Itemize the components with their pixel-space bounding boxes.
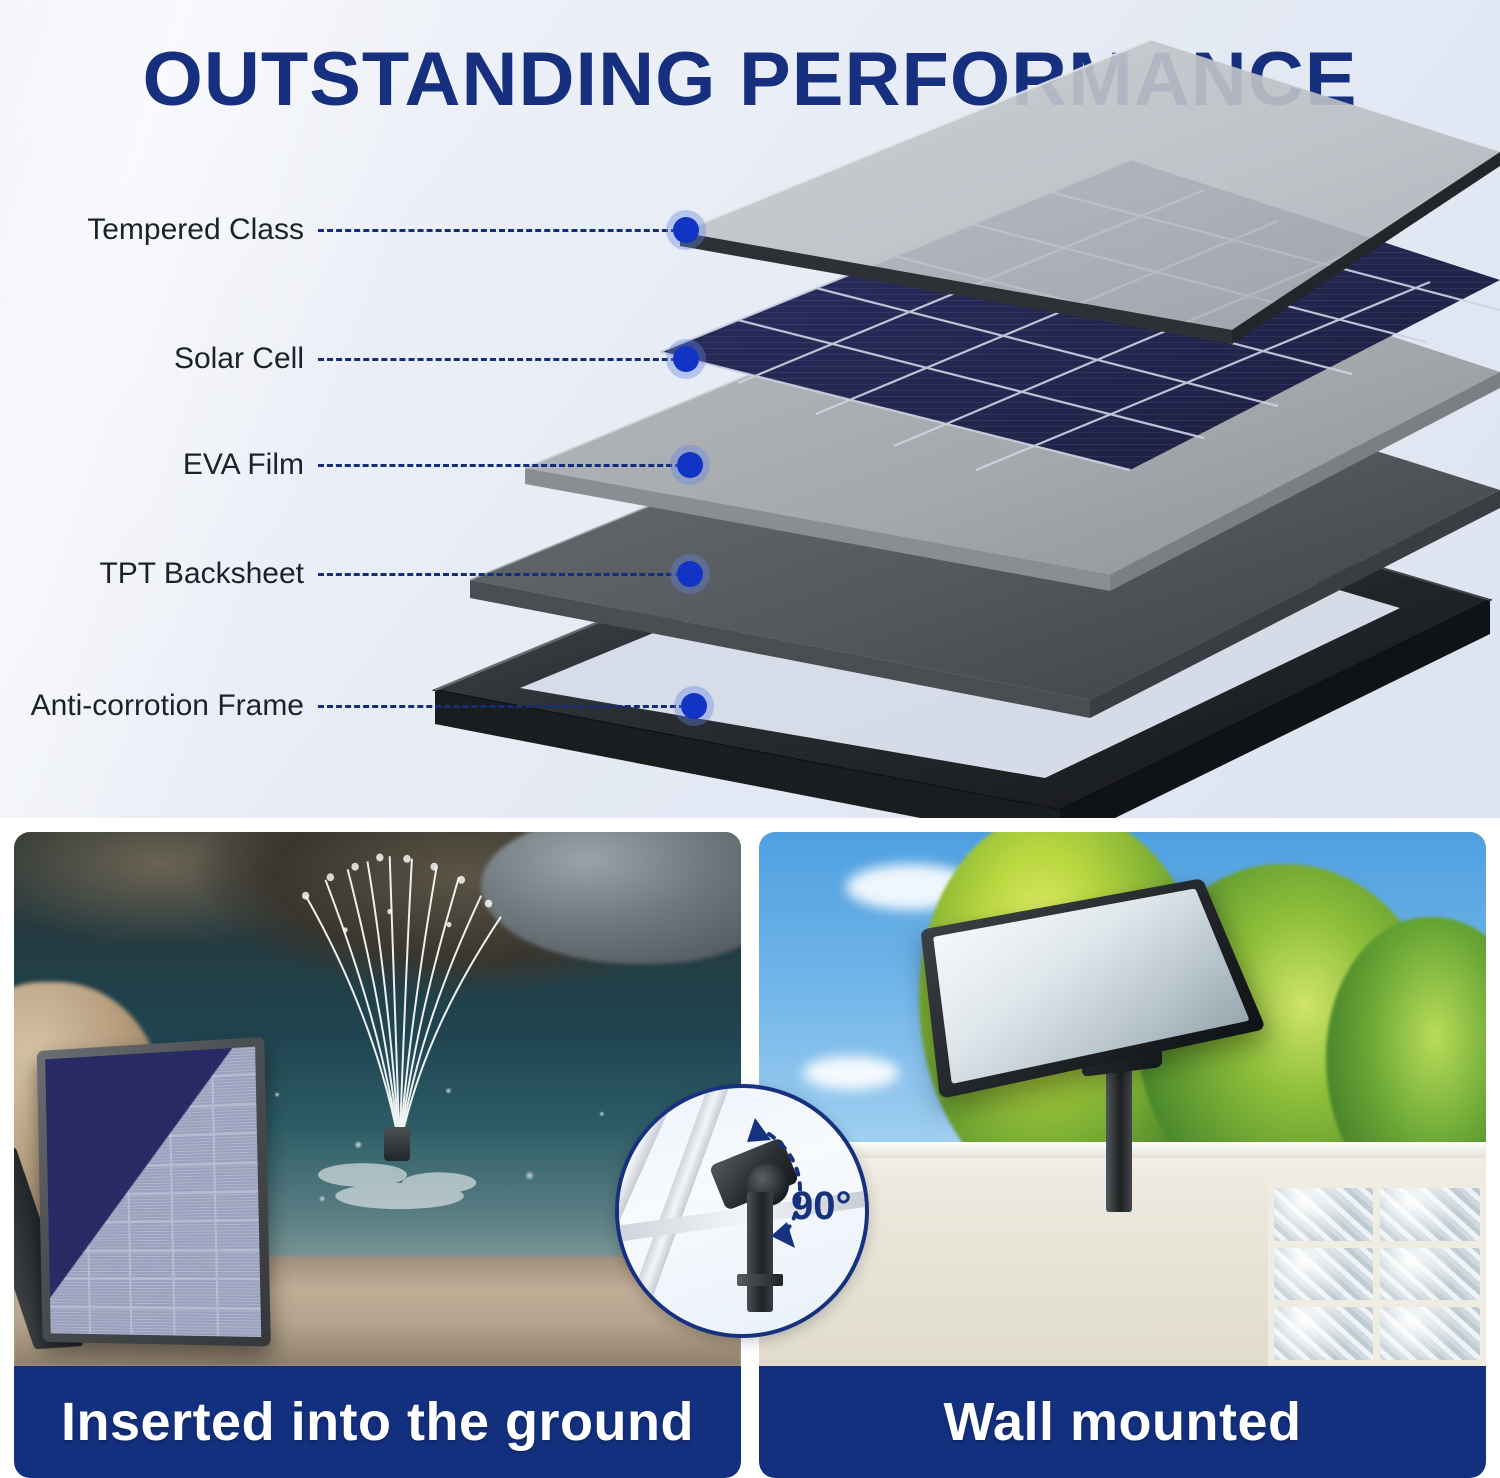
caption-bar-inserted-into-ground: Inserted into the ground [14,1366,741,1478]
exploded-diagram-panel: OUTSTANDING PERFORMANCE [0,0,1500,818]
callout-label: TPT Backsheet [99,557,304,591]
callout-leader-line [318,573,690,576]
callout-label: EVA Film [183,448,304,482]
panel-cell-grid [45,1047,261,1337]
fountain-nozzle [384,1127,410,1161]
glass-block-wall [1268,1182,1486,1366]
callout-leader-line [318,229,686,232]
callout-label: Solar Cell [174,342,304,376]
photo-card-wall-mounted[interactable]: Wall mounted [759,832,1486,1478]
caption-text: Wall mounted [944,1391,1302,1453]
caption-bar-wall-mounted: Wall mounted [759,1366,1486,1478]
callout-leader-line [318,358,686,361]
angle-value: 90° [791,1184,852,1229]
callout-dot-icon [673,217,699,243]
mounting-pole [1106,1062,1132,1212]
callout-leader-line [318,705,694,708]
caption-text: Inserted into the ground [61,1391,694,1453]
solar-panel-product [37,1037,271,1347]
water-fountain-spray [276,843,523,1238]
callout-label: Tempered Class [87,213,304,247]
angle-adjustment-inset: 90° [615,1084,869,1338]
callout-label: Anti-corrotion Frame [31,689,304,723]
callout-dot-icon [673,346,699,372]
wall-mounted-scene [759,832,1486,1366]
callout-leader-line [318,464,690,467]
callout-dot-icon [677,452,703,478]
callout-dot-icon [677,561,703,587]
callout-dot-icon [681,693,707,719]
cloud-icon [803,1056,899,1090]
